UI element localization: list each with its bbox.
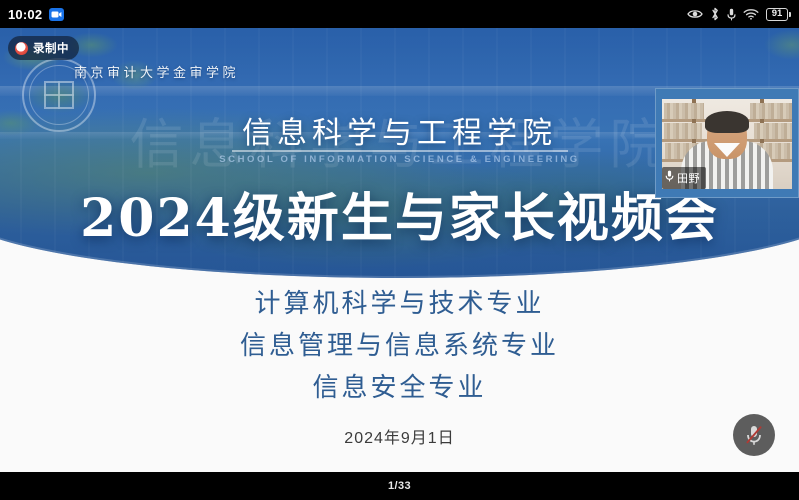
wifi-icon bbox=[743, 8, 759, 20]
recording-badge[interactable]: 录制中 bbox=[8, 36, 79, 60]
slide-date: 2024年9月1日 bbox=[0, 424, 799, 448]
status-clock: 10:02 bbox=[8, 7, 42, 22]
department-divider bbox=[232, 150, 568, 152]
status-bar: 10:02 91 bbox=[0, 0, 799, 28]
bookshelf-books bbox=[754, 123, 792, 139]
participant-name-label: 田野 bbox=[662, 167, 706, 189]
status-bar-right: 91 bbox=[687, 7, 791, 21]
battery-cap bbox=[789, 12, 791, 17]
recording-label: 录制中 bbox=[33, 40, 69, 56]
bottom-bar: 1/33 bbox=[0, 472, 799, 500]
status-bar-left: 10:02 bbox=[8, 7, 64, 22]
microphone-icon bbox=[727, 8, 736, 21]
record-dot-icon bbox=[15, 42, 28, 55]
bookshelf-books bbox=[750, 103, 792, 119]
battery-level: 91 bbox=[772, 9, 783, 19]
participant-video-tile[interactable]: 田野 bbox=[655, 88, 799, 198]
microphone-muted-icon[interactable] bbox=[733, 414, 775, 456]
majors-list: 计算机科学与技术专业 信息管理与信息系统专业 信息安全专业 bbox=[0, 283, 799, 409]
participant-hair bbox=[705, 111, 749, 133]
battery-indicator: 91 bbox=[766, 8, 791, 21]
bookshelf-books bbox=[664, 103, 704, 119]
microphone-icon bbox=[665, 169, 674, 187]
crest-glyph bbox=[44, 81, 74, 109]
school-name: 南京审计大学金审学院 bbox=[74, 62, 239, 81]
major-item: 计算机科学与技术专业 bbox=[0, 283, 799, 325]
meeting-app-icon bbox=[49, 8, 64, 21]
battery-body: 91 bbox=[766, 8, 788, 21]
major-item: 信息安全专业 bbox=[0, 367, 799, 409]
eye-icon bbox=[687, 8, 703, 20]
bookshelf-books bbox=[664, 123, 702, 139]
page-indicator: 1/33 bbox=[388, 480, 411, 492]
bluetooth-icon bbox=[710, 7, 720, 21]
participant-name: 田野 bbox=[677, 170, 700, 186]
slide-stage[interactable]: 南京审计大学金审学院 录制中 信息科学与工程学院 信息科学与工程学院 SCHOO… bbox=[0, 28, 799, 472]
major-item: 信息管理与信息系统专业 bbox=[0, 325, 799, 367]
